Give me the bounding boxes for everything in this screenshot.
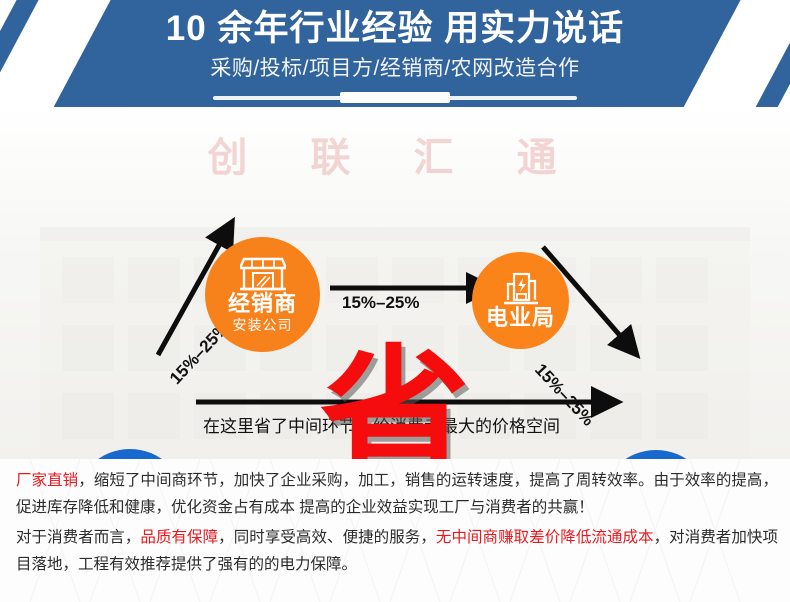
arrow-label-dealer-to-bureau: 15%–25% <box>342 293 420 313</box>
paragraph-one-rest: ，缩短了中间商环节，加快了企业采购，加工，销售的运转速度，提高了周转效率。由于效… <box>16 472 778 516</box>
paragraph-two-highlight-nomiddleman: 无中间商赚取差价降低流通成本 <box>436 529 654 546</box>
header-banner: 10 余年行业经验 用实力说话 采购/投标/项目方/经销商/农网改造合作 <box>0 0 790 107</box>
shop-icon <box>240 256 286 292</box>
node-power-bureau-title: 电业局 <box>486 306 555 330</box>
promo-banner-page: 10 余年行业经验 用实力说话 采购/投标/项目方/经销商/农网改造合作 <box>0 0 790 602</box>
bottom-description: 厂家直销，缩短了中间商环节，加快了企业采购，加工，销售的运转速度，提高了周转效率… <box>0 459 790 602</box>
power-building-icon <box>501 272 541 306</box>
paragraph-two-highlight-quality: 品质有保障 <box>140 529 218 546</box>
paragraph-two-mid: ，同时享受高效、便捷的服务， <box>218 529 436 546</box>
supply-chain-diagram: 创 联 汇 通 15%–25% 15%–25% 15%–25% 在这里省了中间环… <box>0 107 790 459</box>
paragraph-two: 对于消费者而言，品质有保障，同时享受高效、便捷的服务，无中间商赚取差价降低流通成… <box>16 524 778 578</box>
header-title: 10 余年行业经验 用实力说话 <box>0 7 790 51</box>
node-dealer[interactable]: 经销商 安装公司 <box>205 237 320 352</box>
paragraph-two-lead: 对于消费者而言， <box>16 529 140 546</box>
paragraph-one-highlight: 厂家直销 <box>16 472 78 489</box>
node-dealer-subtitle: 安装公司 <box>233 316 293 334</box>
node-dealer-title: 经销商 <box>228 292 297 316</box>
center-savings-character: 省 <box>0 343 790 459</box>
header-divider-accent <box>340 92 450 103</box>
node-power-bureau[interactable]: 电业局 <box>472 252 569 349</box>
header-subtitle: 采购/投标/项目方/经销商/农网改造合作 <box>0 55 790 83</box>
paragraph-one: 厂家直销，缩短了中间商环节，加快了企业采购，加工，销售的运转速度，提高了周转效率… <box>16 467 778 521</box>
